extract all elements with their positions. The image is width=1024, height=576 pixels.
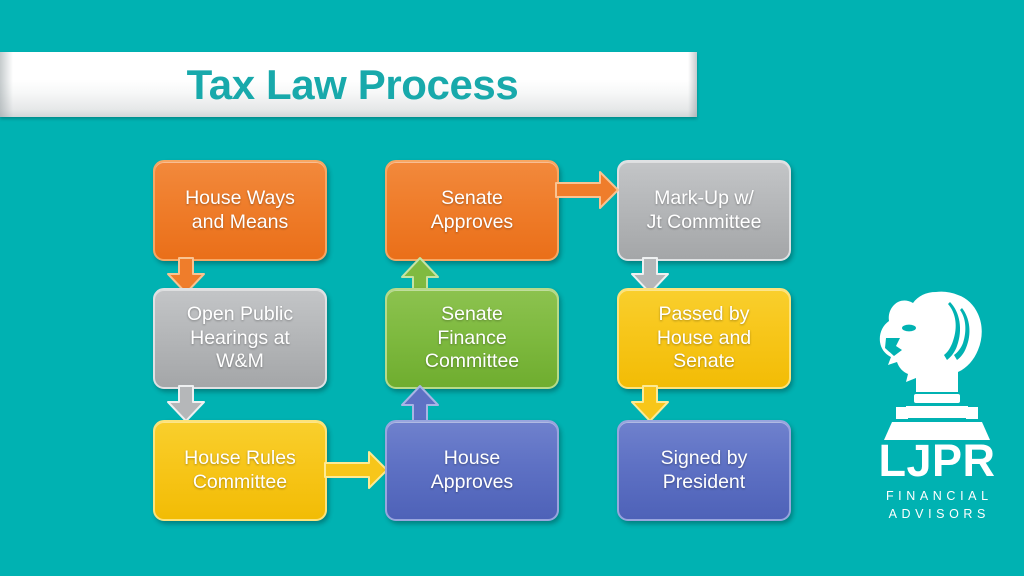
ljpr-logo: LJPR FINANCIAL ADVISORS [852,286,1022,524]
arrow-passed-to-signed [630,386,670,422]
flow-node-house-rules-committee[interactable]: House Rules Committee [153,420,327,521]
flow-node-open-public-hearings[interactable]: Open Public Hearings at W&M [153,288,327,389]
flow-node-senate-finance-committee[interactable]: Senate Finance Committee [385,288,559,389]
logo-tagline-advisors: ADVISORS [852,508,1022,521]
flow-node-signed-by-president[interactable]: Signed by President [617,420,791,521]
arrow-house-rules-to-house-approves [325,450,389,490]
flow-node-house-approves[interactable]: House Approves [385,420,559,521]
slide-canvas: Tax Law Process House Ways and Means Ope… [0,0,1024,576]
flow-node-passed-by-house-and-senate[interactable]: Passed by House and Senate [617,288,791,389]
flow-node-house-ways-and-means[interactable]: House Ways and Means [153,160,327,261]
flow-node-senate-approves[interactable]: Senate Approves [385,160,559,261]
arrow-senate-approves-to-mark-up [556,170,620,210]
logo-tagline-financial: FINANCIAL [852,490,1022,503]
lion-knight-icon [866,286,1006,446]
arrow-house-approves-to-senate-finance [400,386,440,422]
logo-wordmark: LJPR [852,438,1022,483]
arrow-hearings-to-house-rules [166,386,206,422]
flow-node-mark-up-jt-committee[interactable]: Mark-Up w/ Jt Committee [617,160,791,261]
page-title: Tax Law Process [0,61,697,109]
title-banner: Tax Law Process [0,52,697,117]
